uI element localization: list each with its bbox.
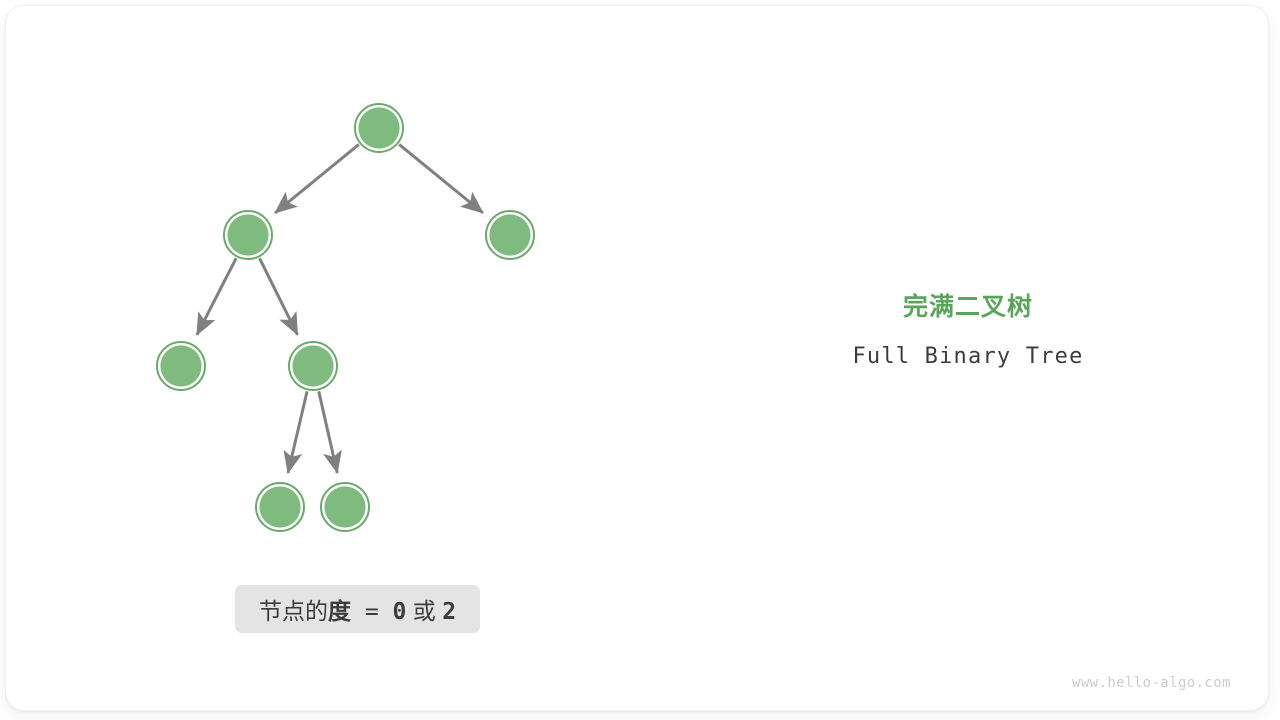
label-block: 完满二叉树 Full Binary Tree [768,292,1168,370]
tree-edge [197,258,236,335]
diagram-canvas: 完满二叉树 Full Binary Tree 节点的度 = 0 或 2 www.… [0,0,1280,720]
tree-node [355,104,403,152]
node-circle [489,214,530,255]
caption-degree-keyword: 度 [328,598,351,624]
tree-node [157,342,205,390]
node-circle [358,107,399,148]
caption-value-zero: 0 [393,599,407,625]
tree-edge [319,391,338,473]
tree-edge [275,144,359,212]
node-circle [259,486,300,527]
watermark-url: www.hello-algo.com [1072,675,1231,691]
tree-node [256,483,304,531]
tree-node [486,211,534,259]
node-circle [160,345,201,386]
tree-node [289,342,337,390]
tree-nodes [157,104,534,531]
caption-text: 节点的度 = 0 或 2 [259,592,456,626]
caption-equals: = [351,599,393,625]
node-circle [227,214,268,255]
tree-edge [288,391,307,473]
node-circle [324,486,365,527]
tree-edges [197,144,483,472]
title-chinese: 完满二叉树 [768,292,1168,322]
caption-or-word: 或 [406,598,442,624]
caption-badge: 节点的度 = 0 或 2 [235,585,480,633]
tree-node [224,211,272,259]
tree-node [321,483,369,531]
node-circle [292,345,333,386]
caption-value-two: 2 [442,599,456,625]
tree-edge [399,144,483,212]
tree-edge [260,258,298,334]
caption-plain-prefix: 节点的 [259,598,328,624]
title-english: Full Binary Tree [768,344,1168,370]
